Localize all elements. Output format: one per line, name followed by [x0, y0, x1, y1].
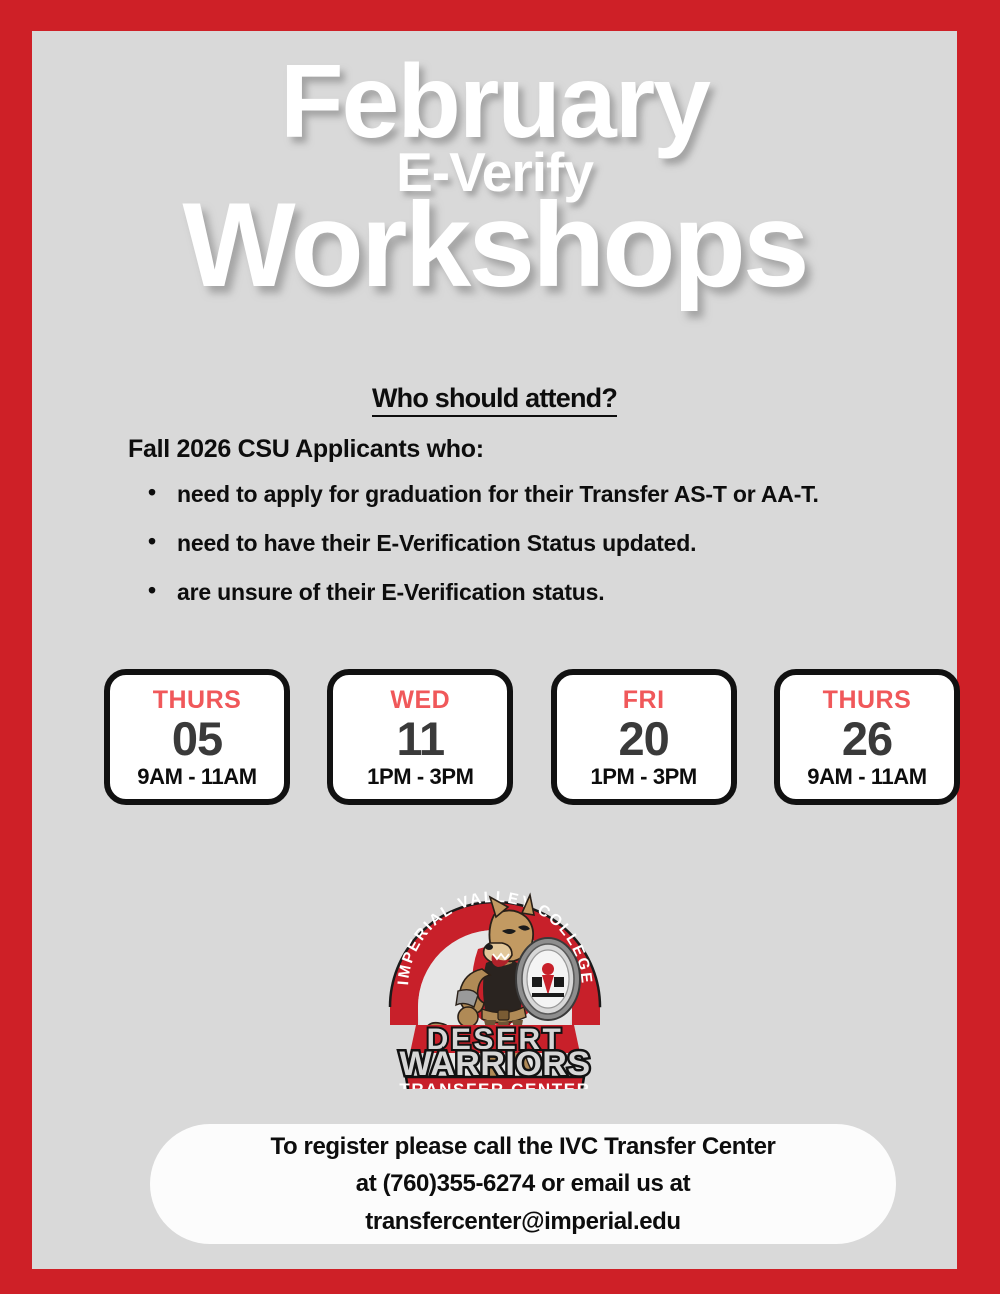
register-phone-line: at (760)355-6274 or email us at	[356, 1165, 690, 1202]
list-item: • are unsure of their E-Verification sta…	[144, 579, 944, 606]
list-item: • need to have their E-Verification Stat…	[144, 530, 944, 557]
date-card-time: 1PM - 3PM	[590, 766, 696, 788]
date-card-1[interactable]: THURS 05 9AM - 11AM	[104, 669, 290, 805]
register-email-line[interactable]: transfercenter@imperial.edu	[365, 1203, 680, 1240]
date-card-2[interactable]: WED 11 1PM - 3PM	[327, 669, 513, 805]
attend-bullet-list: • need to apply for graduation for their…	[144, 481, 944, 628]
title-month: February	[32, 53, 957, 152]
title-main: Workshops	[32, 188, 957, 302]
list-item: • need to apply for graduation for their…	[144, 481, 944, 508]
date-card-day: FRI	[623, 688, 665, 713]
date-card-number: 11	[396, 715, 444, 763]
date-card-time: 9AM - 11AM	[137, 766, 256, 788]
date-card-day: THURS	[823, 688, 912, 713]
date-card-3[interactable]: FRI 20 1PM - 3PM	[551, 669, 737, 805]
bullet-icon: •	[148, 530, 156, 553]
date-card-number: 05	[172, 715, 222, 763]
attend-heading: Who should attend?	[32, 383, 957, 414]
attend-lead: Fall 2026 CSU Applicants who:	[128, 435, 484, 464]
logo-shield	[516, 938, 580, 1020]
date-card-number: 20	[619, 715, 669, 763]
ivc-desert-warriors-logo: IMPERIAL VALLEY COLLEGE	[382, 857, 608, 1089]
bullet-icon: •	[148, 481, 156, 504]
logo-banner: TRANSFER CENTER	[399, 1077, 590, 1089]
date-card-row: THURS 05 9AM - 11AM WED 11 1PM - 3PM FRI…	[104, 669, 960, 805]
register-line-1: To register please call the IVC Transfer…	[271, 1128, 776, 1165]
list-item-label: are unsure of their E-Verification statu…	[177, 579, 604, 605]
list-item-label: need to apply for graduation for their T…	[177, 481, 819, 507]
logo-banner-text: TRANSFER CENTER	[399, 1080, 590, 1089]
list-item-label: need to have their E-Verification Status…	[177, 530, 696, 556]
register-info-box: To register please call the IVC Transfer…	[150, 1124, 896, 1244]
title-block: February E-Verify Workshops	[32, 53, 957, 302]
date-card-day: WED	[390, 688, 450, 713]
date-card-day: THURS	[153, 688, 242, 713]
date-card-time: 9AM - 11AM	[807, 766, 926, 788]
flyer-inner-panel: February E-Verify Workshops Who should a…	[32, 31, 957, 1269]
attend-heading-text: Who should attend?	[372, 383, 617, 417]
date-card-number: 26	[842, 715, 892, 763]
date-card-time: 1PM - 3PM	[367, 766, 473, 788]
flyer-page: February E-Verify Workshops Who should a…	[0, 0, 1000, 1294]
date-card-4[interactable]: THURS 26 9AM - 11AM	[774, 669, 960, 805]
bullet-icon: •	[148, 579, 156, 602]
